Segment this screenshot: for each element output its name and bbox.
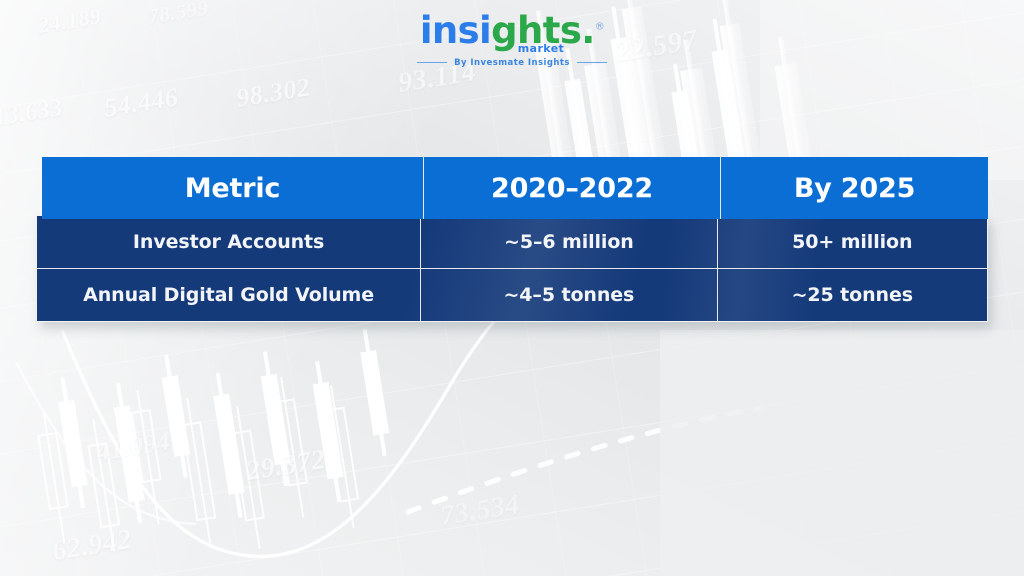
cell-value: 50+ million [792,231,912,253]
table-header-row: Metric 2020–2022 By 2025 [42,157,988,219]
table-cell-2020-2022: ~4–5 tonnes [420,269,716,321]
table-body: Investor Accounts ~5–6 million 50+ milli… [36,215,988,322]
logo-wordmark: insights.® [420,12,604,49]
watermark-number: 62.942 [50,524,134,568]
watermark-number: 41.094 [94,426,172,467]
table-cell-2020-2022: ~5–6 million [420,216,716,268]
logo-dot: . [581,9,594,52]
tagline-rule-left [417,62,447,63]
cell-value: ~25 tonnes [792,284,913,306]
logo-tagline: By Invesmate Insights [0,58,1024,68]
cell-value: Investor Accounts [133,231,324,253]
table-header-label: Metric [185,173,280,204]
table-header-cell-2020-2022: 2020–2022 [423,157,720,219]
table-header-cell-by-2025: By 2025 [720,157,988,219]
watermark-number: 54.446 [102,82,180,123]
cell-value: ~5–6 million [504,231,634,253]
brand-logo: insights.® market By Invesmate Insights [0,12,1024,68]
table-header-cell-metric: Metric [42,157,423,219]
tagline-text: By Invesmate Insights [454,58,570,68]
watermark-number: 98.302 [234,72,312,113]
table-cell-by-2025: 50+ million [717,216,987,268]
logo-text-secondary: ghts [491,9,581,52]
table-row: Annual Digital Gold Volume ~4–5 tonnes ~… [37,268,987,321]
table-row: Investor Accounts ~5–6 million 50+ milli… [37,216,987,268]
comparison-table: Metric 2020–2022 By 2025 Investor Accoun… [36,157,988,322]
cell-value: ~4–5 tonnes [503,284,634,306]
table-header-label: By 2025 [794,173,915,204]
table-header-label: 2020–2022 [491,173,653,204]
table-cell-metric: Investor Accounts [37,216,420,268]
registered-trademark-icon: ® [595,22,604,33]
cell-value: Annual Digital Gold Volume [83,284,374,306]
watermark-number: 73.534 [438,489,522,533]
logo-text-primary: insi [420,9,491,52]
slide-canvas: 24.18978.59913.63354.44698.30293.11422.5… [0,0,1024,576]
watermark-number: 13.633 [0,95,65,132]
tagline-rule-right [577,62,607,63]
table-cell-by-2025: ~25 tonnes [717,269,987,321]
watermark-number: 29.372 [244,444,328,488]
table-cell-metric: Annual Digital Gold Volume [37,269,420,321]
